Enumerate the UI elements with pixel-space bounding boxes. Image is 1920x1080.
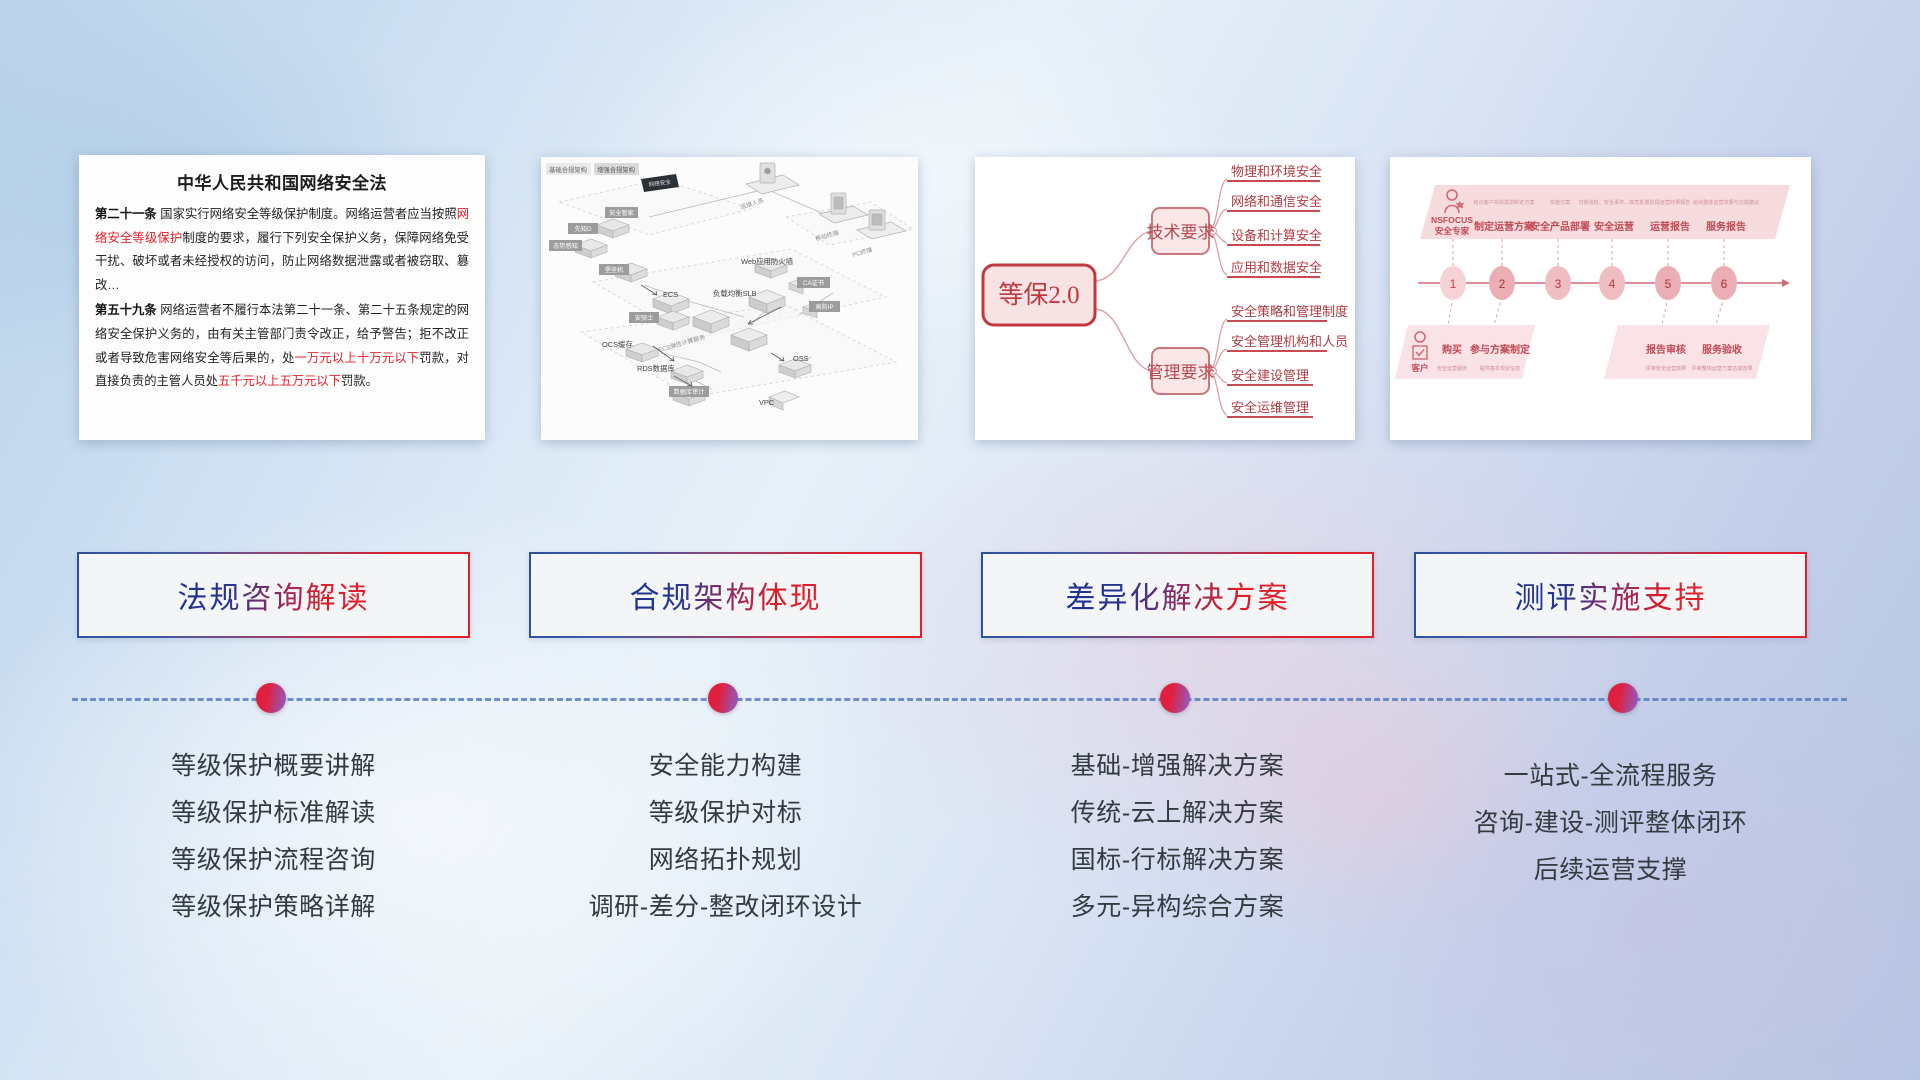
list-item: 等级保护策略详解 [77,884,470,931]
column-list-1: 等级保护概要讲解 等级保护标准解读 等级保护流程咨询 等级保护策略详解 [77,743,470,931]
architecture-node-slb: 负载均衡SLB [713,289,757,298]
column-list-3: 基础-增强解决方案 传统-云上解决方案 国标-行标解决方案 多元-异构综合方案 [981,743,1374,931]
column-list-2: 安全能力构建 等级保护对标 网络拓扑规划 调研-差分-整改闭环设计 [529,743,922,931]
mindmap-diagram: 等保2.0 技术要求 管理要求 物理和环境安全 网络和通信安全 设备和计算安全 … [975,157,1355,440]
svg-text:安全产品部署: 安全产品部署 [1530,220,1590,233]
svg-text:实施方案: 实施方案 [1550,199,1570,206]
svg-text:增强合规架构: 增强合规架构 [597,165,635,174]
svg-text:5: 5 [1665,277,1672,291]
list-item: 国标-行标解决方案 [981,837,1374,884]
svg-text:态势感知: 态势感知 [553,242,578,250]
header-box-3-label: 差异化解决方案 [1066,573,1290,617]
architecture-node-waf: Web应用防火墙 [741,257,794,266]
mindmap-root-node: 等保2.0 [983,265,1095,325]
list-item: 调研-差分-整改闭环设计 [529,884,922,931]
svg-text:堡垒机: 堡垒机 [605,266,624,274]
svg-text:评审整体运营方案达成效果: 评审整体运营方案达成效果 [1691,365,1752,372]
svg-text:4: 4 [1609,277,1616,291]
svg-text:6: 6 [1721,277,1728,291]
svg-text:管理要求: 管理要求 [1147,363,1215,382]
svg-text:报告审核: 报告审核 [1646,343,1686,356]
law-run-highlight: 一万元以上十万元以下 [295,351,420,365]
svg-text:运营报告: 运营报告 [1650,220,1690,233]
svg-text:设备和计算安全: 设备和计算安全 [1231,228,1322,243]
svg-text:参与方案制定: 参与方案制定 [1470,343,1530,356]
column-list-4: 一站式-全流程服务 咨询-建设-测评整体闭环 后续运营支撑 [1414,753,1807,894]
mindmap-branch-node-management: 管理要求 [1147,348,1215,394]
svg-text:数据库审计: 数据库审计 [674,388,705,396]
list-item: 后续运营支撑 [1414,847,1807,894]
law-article-number: 第五十九条 [95,303,157,317]
card-mindmap[interactable]: 等保2.0 技术要求 管理要求 物理和环境安全 网络和通信安全 设备和计算安全 … [975,157,1355,440]
svg-text:基础合规架构: 基础合规架构 [549,165,587,174]
card-cloud-architecture[interactable]: 基础合规架构 增强合规架构 网络安全 [541,157,918,440]
svg-text:先知D: 先知D [575,225,592,233]
list-item: 一站式-全流程服务 [1414,753,1807,800]
svg-text:提供基本现状信息: 提供基本现状信息 [1480,365,1521,372]
svg-text:安全运营服务: 安全运营服务 [1437,365,1468,372]
svg-text:2: 2 [1499,277,1506,291]
header-box-2[interactable]: 合规架构体现 [529,552,922,638]
svg-text:网络和通信安全: 网络和通信安全 [1231,194,1322,209]
svg-text:评审安全运营效果: 评审安全运营效果 [1646,365,1687,372]
law-run-text: 国家实行网络安全等级保护制度。网络运营者应当按照 [157,207,457,221]
svg-text:技术要求: 技术要求 [1147,223,1215,242]
svg-text:购买: 购买 [1442,343,1462,356]
timeline-dot-1[interactable] [256,683,286,713]
header-box-3[interactable]: 差异化解决方案 [981,552,1374,638]
svg-text:等保2.0: 等保2.0 [998,281,1079,309]
law-paragraph: 第五十九条 网络运营者不履行本法第二十一条、第二十五条规定的网络安全保护义务的，… [95,299,469,393]
card-law-document[interactable]: 中华人民共和国网络安全法 第二十一条 国家实行网络安全等级保护制度。网络运营者应… [79,155,485,440]
svg-text:制定运营方案: 制定运营方案 [1474,220,1535,233]
svg-text:服务验收: 服务验收 [1702,343,1742,356]
svg-text:安全专家: 安全专家 [1435,225,1470,236]
architecture-node-ocs: OCS缓存 [602,340,633,349]
timeline-dot-3[interactable] [1160,683,1190,713]
mindmap-branch-node-technical: 技术要求 [1147,208,1215,254]
header-box-4-label: 测评实施支持 [1515,573,1707,617]
svg-text:安全运维管理: 安全运维管理 [1231,400,1309,415]
svg-text:高防IP: 高防IP [815,303,833,311]
svg-text:物理和环境安全: 物理和环境安全 [1231,164,1322,179]
svg-text:3: 3 [1555,277,1562,291]
svg-text:1: 1 [1450,277,1457,291]
header-box-4[interactable]: 测评实施支持 [1414,552,1807,638]
law-title: 中华人民共和国网络安全法 [95,169,469,194]
law-run-highlight: 五千元以上五万元以下 [218,374,341,388]
svg-text:结合客户实际需求制定方案: 结合客户实际需求制定方案 [1473,199,1534,206]
timeline-dot-2[interactable] [708,683,738,713]
architecture-node-oss: OSS [793,354,809,363]
architecture-node-ecs: ECS [663,290,678,299]
list-item: 多元-异构综合方案 [981,884,1374,931]
svg-text:安全建设管理: 安全建设管理 [1231,368,1309,383]
svg-text:CA证书: CA证书 [803,279,824,287]
list-item: 网络拓扑规划 [529,837,922,884]
operations-timeline-diagram: 1 2 3 4 5 6 NSFOCUS 安全专家 制定运营方案 安全产品部署 安… [1390,157,1811,440]
list-item: 咨询-建设-测评整体闭环 [1414,800,1807,847]
list-item: 等级保护对标 [529,790,922,837]
svg-text:应用和数据安全: 应用和数据安全 [1231,260,1322,275]
svg-text:安全策略和管理制度: 安全策略和管理制度 [1231,304,1348,319]
svg-text:NSFOCUS: NSFOCUS [1431,215,1473,225]
timeline-dot-4[interactable] [1608,683,1638,713]
svg-text:日常巡检、安全事件、高危处置: 日常巡检、安全事件、高危处置 [1578,199,1649,206]
list-item: 基础-增强解决方案 [981,743,1374,790]
list-item: 传统-云上解决方案 [981,790,1374,837]
svg-text:安全管理机构和人员: 安全管理机构和人员 [1231,334,1348,349]
svg-text:阶段运营效果报告: 阶段运营效果报告 [1650,199,1691,206]
list-item: 等级保护流程咨询 [77,837,470,884]
header-box-2-label: 合规架构体现 [630,573,822,617]
svg-text:客户: 客户 [1410,362,1428,373]
header-box-1[interactable]: 法规咨询解读 [77,552,470,638]
architecture-diagram: 基础合规架构 增强合规架构 网络安全 [541,157,918,440]
svg-text:服务报告: 服务报告 [1706,220,1746,233]
architecture-node-rds: RDS数据库 [637,364,675,373]
law-run-text: 罚款。 [341,374,378,388]
card-operations-timeline[interactable]: 1 2 3 4 5 6 NSFOCUS 安全专家 制定运营方案 安全产品部署 安… [1390,157,1811,440]
header-box-1-label: 法规咨询解读 [178,573,370,617]
list-item: 安全能力构建 [529,743,922,790]
svg-text:给出整体运营效果与达成建议: 给出整体运营效果与达成建议 [1693,199,1759,206]
list-item: 等级保护标准解读 [77,790,470,837]
svg-text:安全管家: 安全管家 [609,209,634,217]
svg-text:安全运营: 安全运营 [1594,220,1634,233]
list-item: 等级保护概要讲解 [77,743,470,790]
timeline-track [72,698,1847,701]
svg-text:安骑士: 安骑士 [635,314,654,322]
architecture-node-vpc: VPC [759,398,775,407]
law-paragraph: 第二十一条 国家实行网络安全等级保护制度。网络运营者应当按照网络安全等级保护制度… [95,203,469,297]
law-article-number: 第二十一条 [95,207,157,221]
